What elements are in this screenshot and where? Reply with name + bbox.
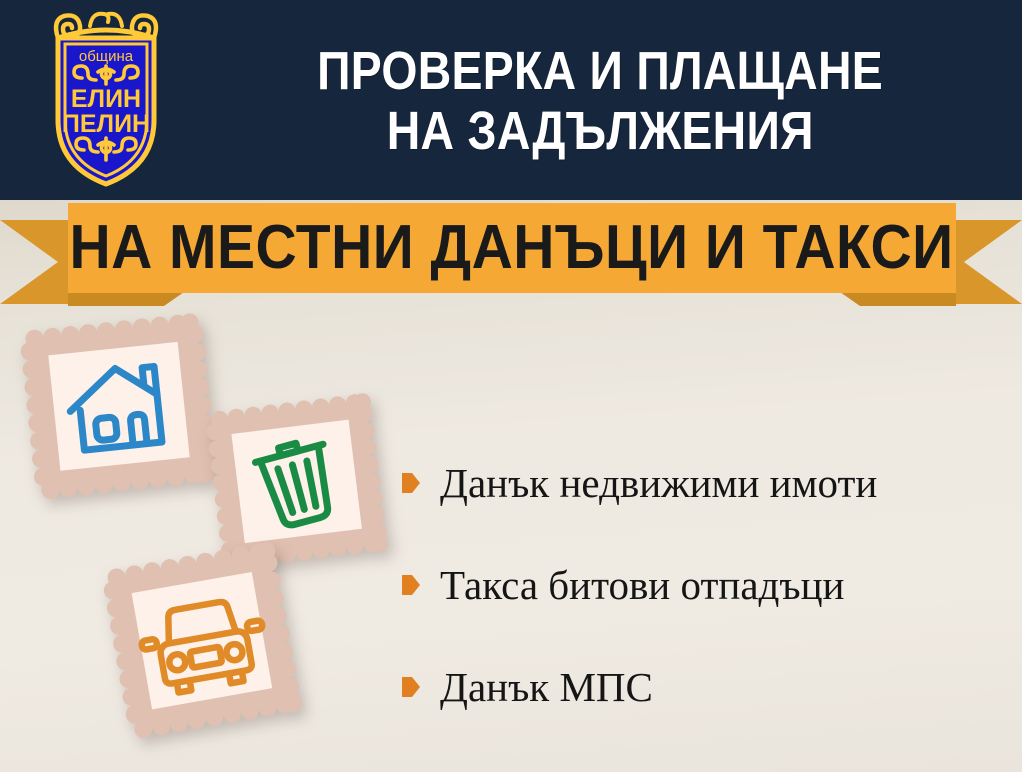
crest-name-line2: ПЕЛИН bbox=[62, 110, 150, 138]
poster-root: община ЕЛИН ПЕЛИН bbox=[0, 0, 1022, 772]
municipality-crest-logo: община ЕЛИН ПЕЛИН bbox=[32, 8, 180, 190]
arrow-bullet-icon bbox=[402, 676, 420, 698]
arrow-bullet-icon bbox=[402, 472, 420, 494]
header-band: община ЕЛИН ПЕЛИН bbox=[0, 0, 1022, 200]
ribbon-banner: НА МЕСТНИ ДАНЪЦИ И ТАКСИ bbox=[0, 196, 1022, 312]
crest-name-line1: ЕЛИН bbox=[71, 85, 141, 113]
list-item-label: Данък МПС bbox=[440, 667, 653, 708]
list-item-label: Такса битови отпадъци bbox=[440, 565, 844, 606]
stamp-card-house bbox=[12, 306, 232, 518]
header-title-line-2: НА ЗАДЪЛЖЕНИЯ bbox=[387, 102, 814, 162]
list-item[interactable]: Данък МПС bbox=[402, 636, 1012, 738]
arrow-bullet-icon bbox=[402, 574, 420, 596]
ribbon-fold-shadow-left bbox=[68, 292, 184, 306]
tax-type-list: Данък недвижими имоти Такса битови отпад… bbox=[402, 432, 1012, 738]
ribbon-text: НА МЕСТНИ ДАНЪЦИ И ТАКСИ bbox=[70, 217, 954, 279]
stamp-card-car bbox=[96, 534, 328, 762]
header-title: ПРОВЕРКА И ПЛАЩАНЕ НА ЗАДЪЛЖЕНИЯ bbox=[186, 14, 1014, 190]
ribbon-fold-shadow-right bbox=[840, 292, 956, 306]
header-title-line-1: ПРОВЕРКА И ПЛАЩАНЕ bbox=[317, 42, 883, 102]
list-item-label: Данък недвижими имоти bbox=[440, 463, 877, 504]
crest-municipality-label: община bbox=[79, 48, 134, 65]
ribbon-band: НА МЕСТНИ ДАНЪЦИ И ТАКСИ bbox=[68, 203, 956, 293]
list-item[interactable]: Такса битови отпадъци bbox=[402, 534, 1012, 636]
list-item[interactable]: Данък недвижими имоти bbox=[402, 432, 1012, 534]
